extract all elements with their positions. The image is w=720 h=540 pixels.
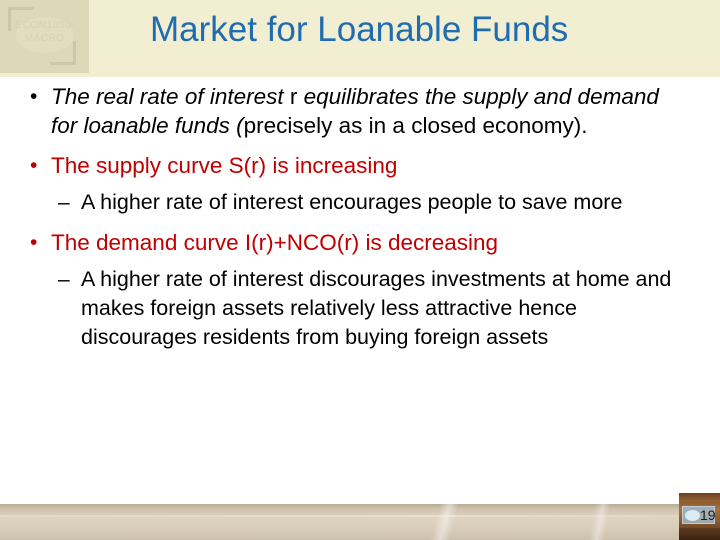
- page-number: 19: [700, 506, 720, 524]
- slide-header-band: ECON1050: MACRO Market for Loanable Fund…: [0, 0, 720, 77]
- bullet-run: The real rate of interest: [51, 84, 290, 109]
- bullet-run: precisely as in a closed economy).: [244, 113, 588, 138]
- bullet-marker: •: [26, 82, 51, 111]
- logo-line-2: MACRO: [0, 32, 89, 45]
- logo-text: ECON1050: MACRO: [0, 19, 89, 45]
- sub-bullet-marker: –: [58, 265, 81, 294]
- slide-body: • The real rate of interest r equilibrat…: [0, 82, 720, 492]
- bullet-run: A higher rate of interest encourages peo…: [81, 190, 622, 214]
- course-logo: ECON1050: MACRO: [0, 0, 89, 73]
- bullet-run: The supply curve S(r) is increasing: [51, 153, 397, 178]
- bullet-marker: •: [26, 228, 51, 257]
- bullet-item: • The demand curve I(r)+NCO(r) is decrea…: [0, 228, 720, 257]
- bullet-text: The supply curve S(r) is increasing: [51, 151, 720, 180]
- bullet-run: A higher rate of interest discourages in…: [81, 267, 671, 349]
- bullet-text: The real rate of interest r equilibrates…: [51, 82, 720, 140]
- sub-bullet-text: A higher rate of interest encourages peo…: [81, 188, 720, 217]
- sub-bullet-marker: –: [58, 188, 81, 217]
- footer-photo-strip: [0, 504, 720, 540]
- bullet-text: The demand curve I(r)+NCO(r) is decreasi…: [51, 228, 720, 257]
- sub-bullet-item: – A higher rate of interest discourages …: [0, 265, 720, 352]
- bullet-marker: •: [26, 151, 51, 180]
- logo-line-1: ECON1050:: [0, 19, 89, 32]
- bullet-run: The demand curve I(r)+NCO(r) is decreasi…: [51, 230, 498, 255]
- sub-bullet-text: A higher rate of interest discourages in…: [81, 265, 720, 352]
- bullet-run: r: [290, 84, 304, 109]
- bullet-item: • The supply curve S(r) is increasing: [0, 151, 720, 180]
- sub-bullet-item: – A higher rate of interest encourages p…: [0, 188, 720, 217]
- slide-title: Market for Loanable Funds: [150, 9, 710, 51]
- page-number-thumbnail: 19: [679, 493, 720, 540]
- bullet-item: • The real rate of interest r equilibrat…: [0, 82, 720, 140]
